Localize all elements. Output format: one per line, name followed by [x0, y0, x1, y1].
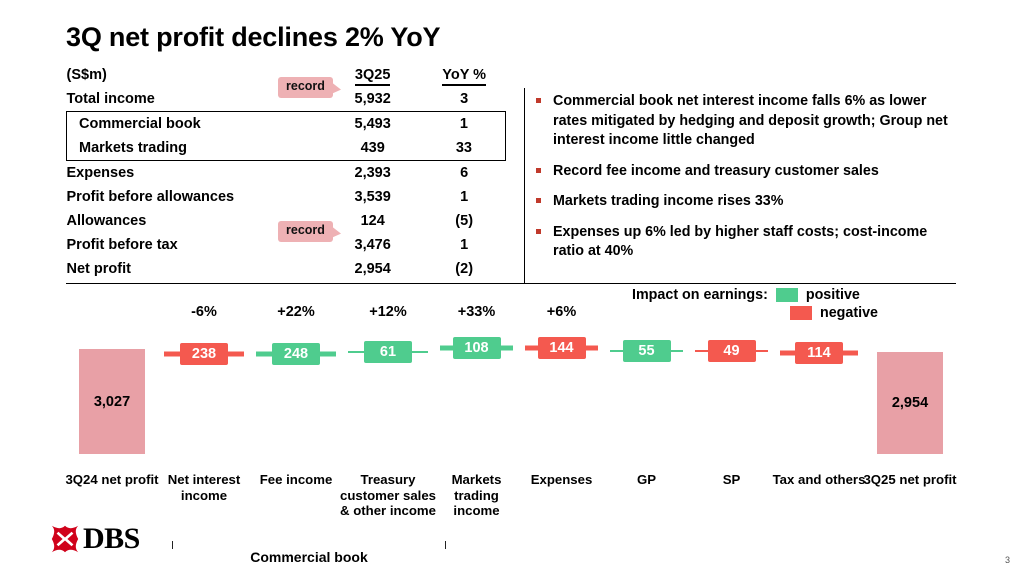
- chart-category-label-treasury-customer-sales-other-income: Treasury customer sales & other income: [338, 472, 438, 519]
- dbs-diamond-icon: [50, 524, 80, 554]
- chart-pct-markets-trading-income: +33%: [434, 304, 519, 320]
- table-row: Markets trading43933: [67, 136, 506, 161]
- horizontal-divider: [66, 283, 956, 284]
- chart-delta-value-sp: 49: [708, 340, 756, 362]
- dbs-logo: DBS: [50, 524, 140, 554]
- table-row: Commercial book5,4931: [67, 112, 506, 137]
- row-value-3q25-expenses: 2,393: [323, 161, 423, 186]
- financials-table-region: (S$m)3Q25YoY %Total income5,9323Commerci…: [66, 63, 506, 281]
- chart-pct-fee-income: +22%: [250, 304, 342, 320]
- slide-canvas: 3Q net profit declines 2% YoY (S$m)3Q25Y…: [0, 0, 1024, 575]
- chart-delta-bar-net-interest-income: 238: [158, 343, 250, 365]
- table-row: Net profit2,954(2): [67, 257, 506, 281]
- chart-delta-value-net-interest-income: 238: [180, 343, 228, 365]
- chart-column-fee-income: +22%248Fee income: [250, 296, 342, 536]
- row-label-markets-trading: Markets trading: [67, 136, 323, 161]
- chart-category-label-sp: SP: [685, 472, 778, 488]
- table-header-col2: YoY %: [423, 63, 506, 87]
- chart-column-3q24-net-profit: 3,0273Q24 net profit: [66, 296, 158, 536]
- bullet-square-icon: [536, 229, 541, 234]
- bullet-square-icon: [536, 198, 541, 203]
- bullet-text: Record fee income and treasury customer …: [553, 163, 879, 179]
- chart-column-tax-and-others: 114Tax and others: [774, 296, 864, 536]
- record-badge-total-income: record: [278, 77, 333, 98]
- chart-delta-bar-markets-trading-income: 108: [434, 337, 519, 359]
- row-value-yoy-allowances: (5): [423, 209, 506, 233]
- row-value-yoy-profit-before-tax: 1: [423, 233, 506, 257]
- row-label-profit-before-allowances: Profit before allowances: [67, 185, 323, 209]
- chart-delta-bar-tax-and-others: 114: [774, 342, 864, 364]
- table-row: Expenses2,3936: [67, 161, 506, 186]
- bullet-item: Commercial book net interest income fall…: [535, 92, 960, 151]
- chart-total-value-3q24-net-profit: 3,027: [79, 394, 145, 410]
- chart-column-net-interest-income: -6%238Net interest income: [158, 296, 250, 536]
- chart-delta-bar-gp: 55: [604, 340, 689, 362]
- page-title: 3Q net profit declines 2% YoY: [66, 22, 440, 53]
- row-value-yoy-total-income: 3: [423, 87, 506, 112]
- vertical-divider: [524, 88, 525, 283]
- table-row: Profit before allowances3,5391: [67, 185, 506, 209]
- commentary-bullet-list: Commercial book net interest income fall…: [535, 92, 960, 273]
- chart-delta-value-expenses: 144: [538, 337, 586, 359]
- chart-delta-value-fee-income: 248: [272, 343, 320, 365]
- chart-total-value-3q25-net-profit: 2,954: [877, 395, 943, 411]
- chart-pct-treasury-customer-sales-other-income: +12%: [342, 304, 434, 320]
- bullet-square-icon: [536, 98, 541, 103]
- chart-delta-bar-fee-income: 248: [250, 343, 342, 365]
- page-number: 3: [1005, 555, 1010, 565]
- row-value-yoy-commercial-book: 1: [423, 112, 506, 137]
- bullet-item: Record fee income and treasury customer …: [535, 162, 960, 182]
- row-label-expenses: Expenses: [67, 161, 323, 186]
- chart-category-label-markets-trading-income: Markets trading income: [430, 472, 523, 519]
- chart-category-label-gp: GP: [600, 472, 693, 488]
- chart-category-label-fee-income: Fee income: [246, 472, 346, 488]
- row-value-3q25-net-profit: 2,954: [323, 257, 423, 281]
- chart-category-label-tax-and-others: Tax and others: [770, 472, 868, 488]
- chart-total-bar-3q24-net-profit: 3,027: [79, 349, 145, 454]
- chart-delta-value-gp: 55: [623, 340, 671, 362]
- bullet-text: Markets trading income rises 33%: [553, 193, 783, 209]
- row-value-yoy-markets-trading: 33: [423, 136, 506, 161]
- row-value-yoy-profit-before-allowances: 1: [423, 185, 506, 209]
- chart-column-treasury-customer-sales-other-income: +12%61Treasury customer sales & other in…: [342, 296, 434, 536]
- chart-column-expenses: +6%144Expenses: [519, 296, 604, 536]
- chart-delta-bar-expenses: 144: [519, 337, 604, 359]
- row-value-3q25-commercial-book: 5,493: [323, 112, 423, 137]
- chart-column-3q25-net-profit: 2,9543Q25 net profit: [864, 296, 956, 536]
- chart-delta-bar-sp: 49: [689, 340, 774, 362]
- chart-category-label-expenses: Expenses: [515, 472, 608, 488]
- row-value-3q25-markets-trading: 439: [323, 136, 423, 161]
- row-value-yoy-expenses: 6: [423, 161, 506, 186]
- record-badge-profit-before-tax: record: [278, 221, 333, 242]
- bullet-text: Commercial book net interest income fall…: [553, 93, 948, 148]
- commercial-book-bracket: Commercial book: [172, 541, 446, 563]
- chart-delta-bar-treasury-customer-sales-other-income: 61: [342, 341, 434, 363]
- chart-column-sp: 49SP: [689, 296, 774, 536]
- row-value-3q25-profit-before-allowances: 3,539: [323, 185, 423, 209]
- row-label-commercial-book: Commercial book: [67, 112, 323, 137]
- bullet-item: Markets trading income rises 33%: [535, 192, 960, 212]
- chart-pct-expenses: +6%: [519, 304, 604, 320]
- chart-column-markets-trading-income: +33%108Markets trading income: [434, 296, 519, 536]
- chart-category-label-3q24-net-profit: 3Q24 net profit: [62, 472, 162, 488]
- waterfall-chart: 3,0273Q24 net profit-6%238Net interest i…: [0, 296, 1024, 575]
- chart-delta-value-markets-trading-income: 108: [453, 337, 501, 359]
- chart-delta-value-treasury-customer-sales-other-income: 61: [364, 341, 412, 363]
- chart-category-label-net-interest-income: Net interest income: [154, 472, 254, 503]
- row-value-yoy-net-profit: (2): [423, 257, 506, 281]
- row-label-net-profit: Net profit: [67, 257, 323, 281]
- chart-total-bar-3q25-net-profit: 2,954: [877, 352, 943, 454]
- bullet-item: Expenses up 6% led by higher staff costs…: [535, 223, 960, 262]
- bullet-square-icon: [536, 168, 541, 173]
- dbs-wordmark: DBS: [83, 524, 140, 554]
- chart-pct-net-interest-income: -6%: [158, 304, 250, 320]
- chart-column-gp: 55GP: [604, 296, 689, 536]
- bullet-text: Expenses up 6% led by higher staff costs…: [553, 224, 927, 260]
- chart-category-label-3q25-net-profit: 3Q25 net profit: [860, 472, 960, 488]
- chart-delta-value-tax-and-others: 114: [795, 342, 843, 364]
- bracket-label: Commercial book: [172, 549, 446, 565]
